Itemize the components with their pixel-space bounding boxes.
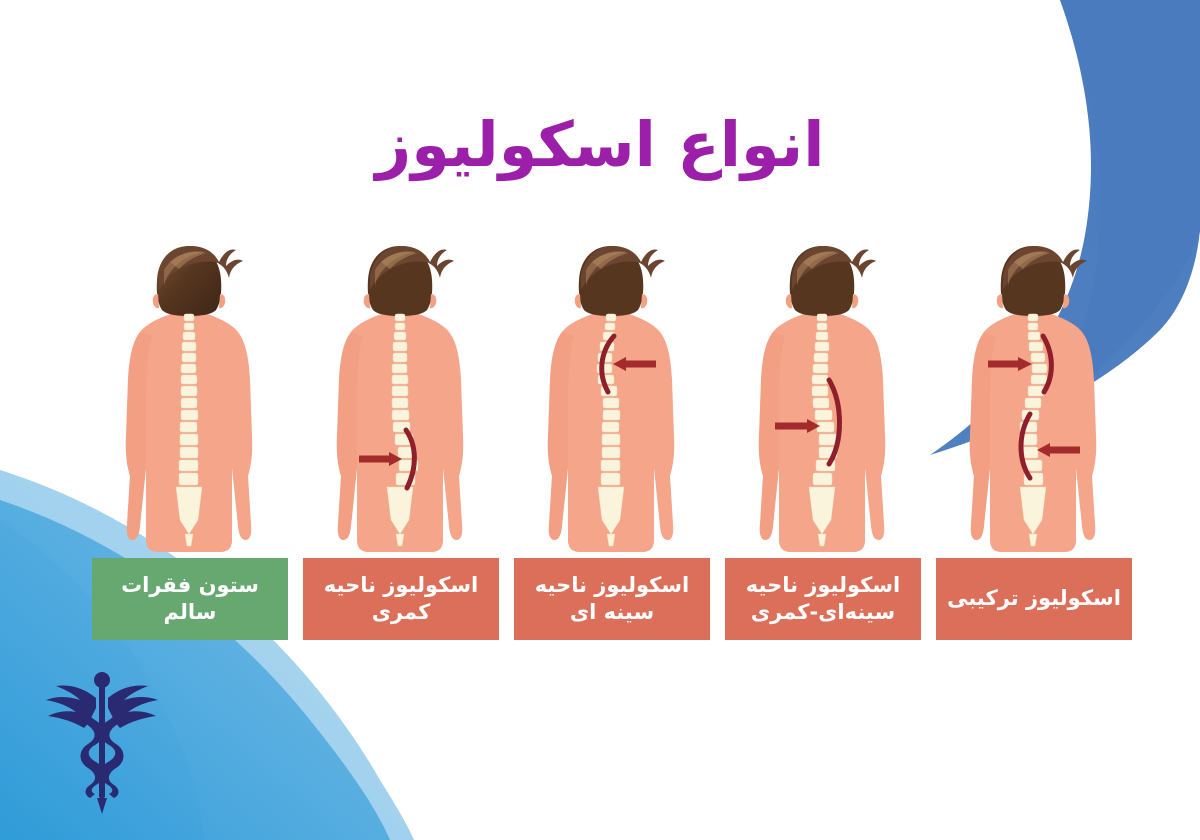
label-healthy-spine[interactable]: ستون فقرات سالم bbox=[92, 558, 288, 640]
labels-row: ستون فقرات سالم اسکولیوز ناحیه کمری اسکو… bbox=[92, 558, 1132, 640]
ear-right bbox=[852, 294, 858, 308]
ear-right bbox=[641, 294, 647, 308]
label-thoracolumbar-scoliosis[interactable]: اسکولیوز ناحیه سینه‌ای-کمری bbox=[725, 558, 921, 640]
label-lumbar-scoliosis[interactable]: اسکولیوز ناحیه کمری bbox=[303, 558, 499, 640]
hair bbox=[368, 246, 454, 316]
caduceus-icon bbox=[38, 664, 166, 814]
ear-right bbox=[430, 294, 436, 308]
figure-healthy-spine bbox=[96, 240, 282, 552]
ear-right bbox=[1063, 294, 1069, 308]
infographic-canvas: انواع اسکولیوز bbox=[0, 0, 1200, 840]
label-combined-scoliosis[interactable]: اسکولیوز ترکیبی bbox=[936, 558, 1132, 640]
ear-right bbox=[219, 294, 225, 308]
figure-thoracic-scoliosis bbox=[518, 240, 704, 552]
ear-left bbox=[364, 294, 370, 308]
ear-left bbox=[786, 294, 792, 308]
ear-left bbox=[997, 294, 1003, 308]
figure-thoracolumbar-scoliosis bbox=[729, 240, 915, 552]
label-thoracic-scoliosis[interactable]: اسکولیوز ناحیه سینه ای bbox=[514, 558, 710, 640]
hair bbox=[1001, 246, 1087, 316]
figure-combined-scoliosis bbox=[940, 240, 1126, 552]
hair bbox=[579, 246, 665, 316]
hair bbox=[790, 246, 876, 316]
ear-left bbox=[575, 294, 581, 308]
hair bbox=[157, 246, 243, 316]
page-title: انواع اسکولیوز bbox=[0, 112, 1200, 177]
ear-left bbox=[153, 294, 159, 308]
figure-lumbar-scoliosis bbox=[307, 240, 493, 552]
figures-row bbox=[96, 240, 1126, 552]
